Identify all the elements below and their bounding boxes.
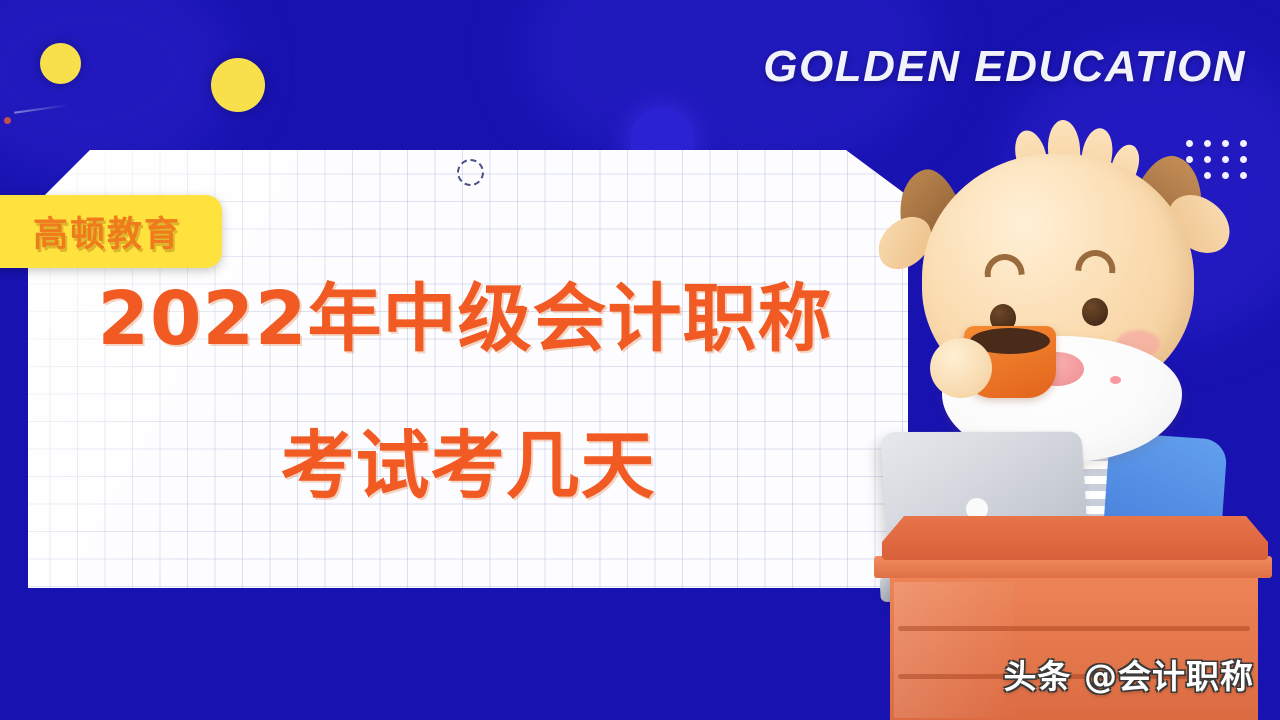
desk-top [882, 516, 1268, 560]
desk-drawer-line [898, 626, 1250, 631]
poster-canvas: GOLDEN EDUCATION 2022年中级会计职称 考试考几天 高顿教育 [0, 0, 1280, 720]
brand-badge: 高顿教育 [0, 195, 222, 268]
brand-title: GOLDEN EDUCATION [763, 42, 1246, 92]
light-streak [14, 104, 68, 113]
desk-highlight [894, 582, 1014, 718]
eye-right [1082, 298, 1108, 326]
orange-speck [4, 117, 11, 124]
hand-left [930, 338, 992, 398]
yellow-circle-small [40, 43, 81, 84]
watermark: 头条 @会计职称 [1004, 650, 1255, 698]
nostril-right [1110, 376, 1121, 384]
brand-badge-label: 高顿教育 [33, 206, 181, 257]
title-line-2: 考试考几天 [281, 406, 656, 513]
yellow-circle-large [211, 58, 265, 112]
title-line-1: 2022年中级会计职称 [98, 259, 833, 366]
